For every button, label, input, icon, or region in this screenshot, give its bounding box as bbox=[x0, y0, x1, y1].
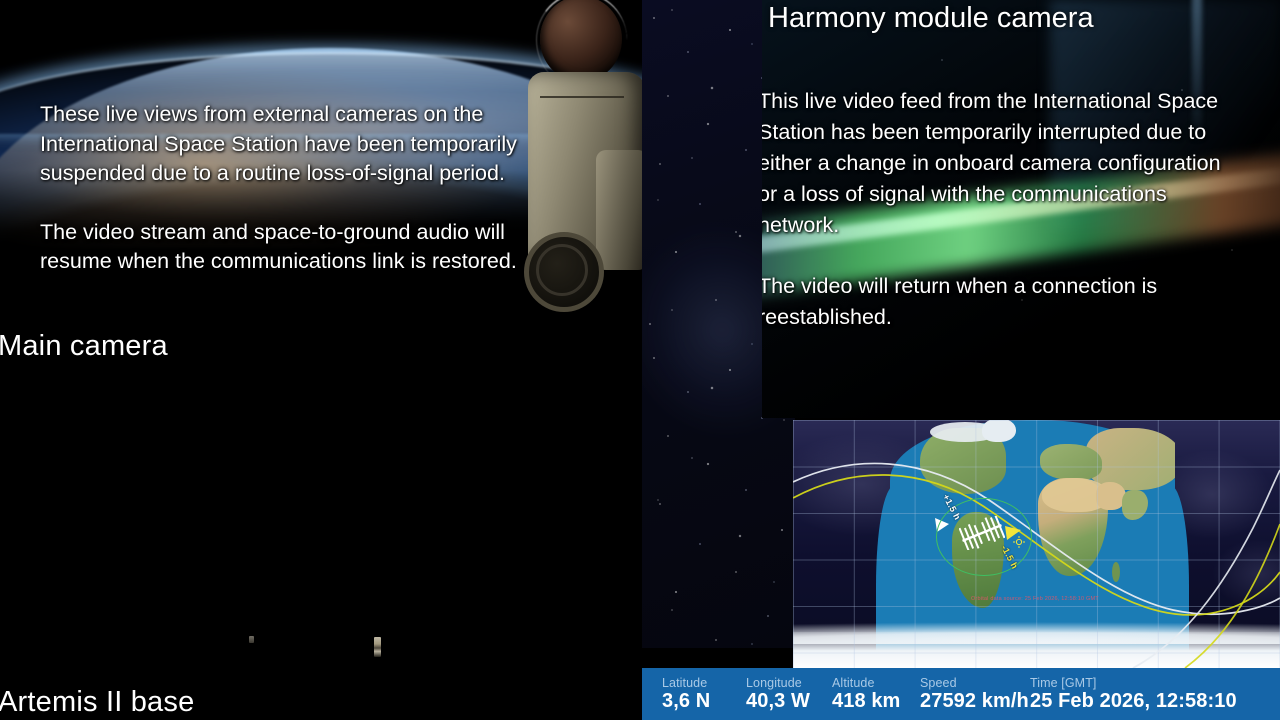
map-orbital-data-credit: Orbital data source: 25 Feb 2026, 12:58:… bbox=[971, 596, 1099, 602]
suit-arm bbox=[596, 150, 642, 270]
orbit-ground-tracks bbox=[793, 420, 1280, 668]
telemetry-value: 418 km bbox=[832, 690, 920, 713]
harmony-camera-status-message: This live video feed from the Internatio… bbox=[762, 86, 1280, 333]
harmony-module-camera-label: Harmony module camera bbox=[768, 2, 1094, 35]
paragraph-gap bbox=[40, 189, 600, 218]
message-line: reestablished. bbox=[762, 302, 1280, 333]
iss-orbit-tracking-map[interactable]: +1.5 h -1.5 h Orbital data source: 25 Fe… bbox=[793, 420, 1280, 668]
telemetry-field-speed: Speed 27592 km/h bbox=[920, 676, 1030, 713]
distant-hardware-module bbox=[374, 637, 381, 657]
message-line: This live video feed from the Internatio… bbox=[762, 86, 1280, 117]
suit-seam bbox=[540, 96, 624, 98]
telemetry-field-longitude: Longitude 40,3 W bbox=[746, 676, 832, 713]
main-camera-label: Main camera bbox=[0, 330, 168, 363]
orbit-track-current-white bbox=[793, 463, 1280, 614]
telemetry-value: 25 Feb 2026, 12:58:10 bbox=[1030, 690, 1237, 713]
message-line: suspended due to a routine loss-of-signa… bbox=[40, 159, 600, 189]
message-line: The video will return when a connection … bbox=[762, 271, 1280, 302]
artemis-ii-base-label: Artemis II base bbox=[0, 686, 194, 719]
message-line: or a loss of signal with the communicati… bbox=[762, 179, 1280, 210]
message-line: either a change in onboard camera config… bbox=[762, 148, 1280, 179]
orbit-track-next-yellow bbox=[793, 475, 1280, 615]
main-camera-video-panel[interactable]: These live views from external cameras o… bbox=[0, 0, 642, 720]
iss-station-icon bbox=[959, 516, 1005, 550]
message-line: International Space Station have been te… bbox=[40, 130, 600, 160]
message-line: The video stream and space-to-ground aud… bbox=[40, 218, 600, 248]
telemetry-value: 3,6 N bbox=[662, 690, 746, 713]
paragraph-gap bbox=[762, 241, 1280, 271]
orbit-track-yellow-tail bbox=[1185, 524, 1280, 668]
telemetry-label: Altitude bbox=[832, 676, 920, 690]
message-line: These live views from external cameras o… bbox=[40, 100, 600, 130]
main-camera-status-message: These live views from external cameras o… bbox=[40, 100, 600, 277]
message-line: network. bbox=[762, 210, 1280, 241]
telemetry-label: Speed bbox=[920, 676, 1030, 690]
telemetry-status-bar: Latitude 3,6 N Longitude 40,3 W Altitude… bbox=[642, 668, 1280, 720]
iss-live-stream-screen: These live views from external cameras o… bbox=[0, 0, 1280, 720]
telemetry-value: 27592 km/h bbox=[920, 690, 1030, 713]
telemetry-field-altitude: Altitude 418 km bbox=[832, 676, 920, 713]
distant-hardware-speck bbox=[249, 636, 254, 643]
telemetry-field-latitude: Latitude 3,6 N bbox=[662, 676, 746, 713]
telemetry-label: Time [GMT] bbox=[1030, 676, 1237, 690]
telemetry-field-time: Time [GMT] 25 Feb 2026, 12:58:10 bbox=[1030, 676, 1237, 713]
harmony-text-clip-region: This live video feed from the Internatio… bbox=[762, 0, 1280, 418]
telemetry-value: 40,3 W bbox=[746, 690, 832, 713]
orbit-direction-arrow-yellow bbox=[1003, 524, 1023, 542]
message-line: Station has been temporarily interrupted… bbox=[762, 117, 1280, 148]
orbit-track-white-tail bbox=[1133, 470, 1280, 668]
telemetry-label: Longitude bbox=[746, 676, 832, 690]
telemetry-label: Latitude bbox=[662, 676, 746, 690]
message-line: resume when the communications link is r… bbox=[40, 247, 600, 277]
